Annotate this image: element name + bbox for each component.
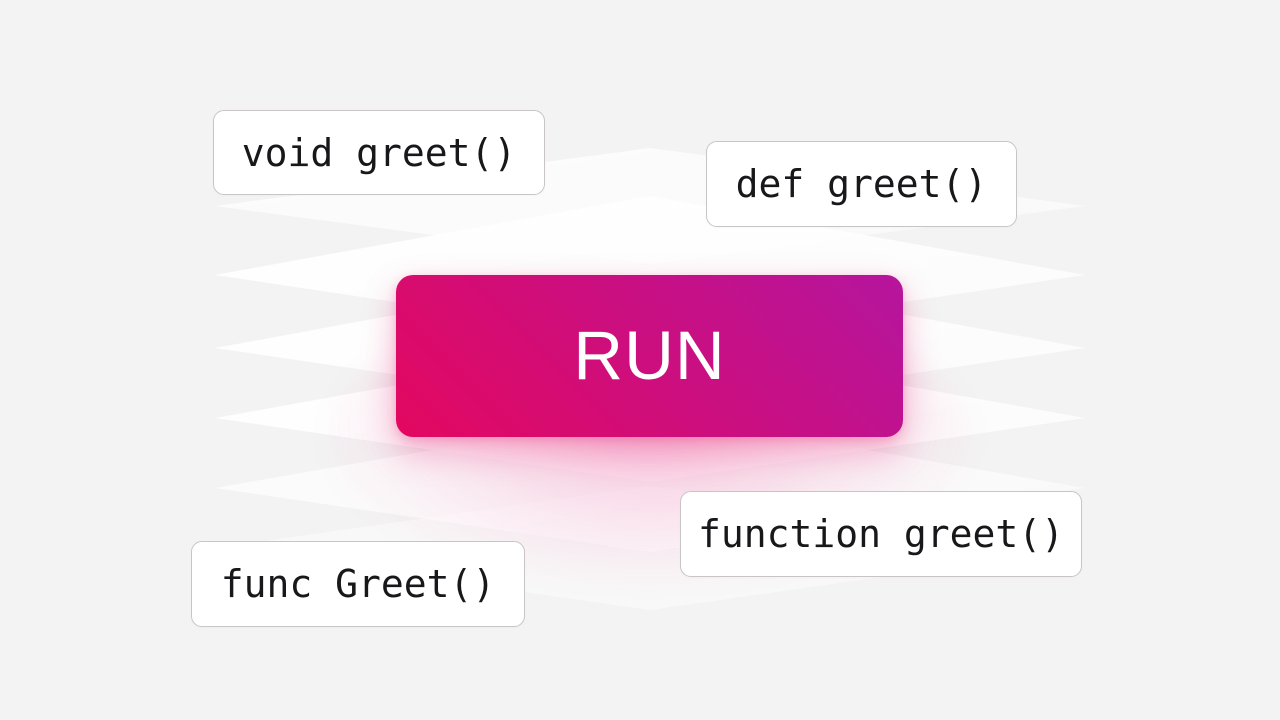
illustration-canvas: RUN void greet() def greet() function gr…	[0, 0, 1280, 720]
code-card-def-greet[interactable]: def greet()	[706, 141, 1017, 227]
code-card-label: void greet()	[242, 131, 517, 175]
code-card-void-greet[interactable]: void greet()	[213, 110, 545, 195]
run-button[interactable]: RUN	[396, 275, 903, 437]
code-card-label: func Greet()	[221, 562, 496, 606]
code-card-label: function greet()	[698, 512, 1064, 556]
code-card-label: def greet()	[736, 162, 988, 206]
code-card-function-greet[interactable]: function greet()	[680, 491, 1082, 577]
code-card-func-greet[interactable]: func Greet()	[191, 541, 525, 627]
